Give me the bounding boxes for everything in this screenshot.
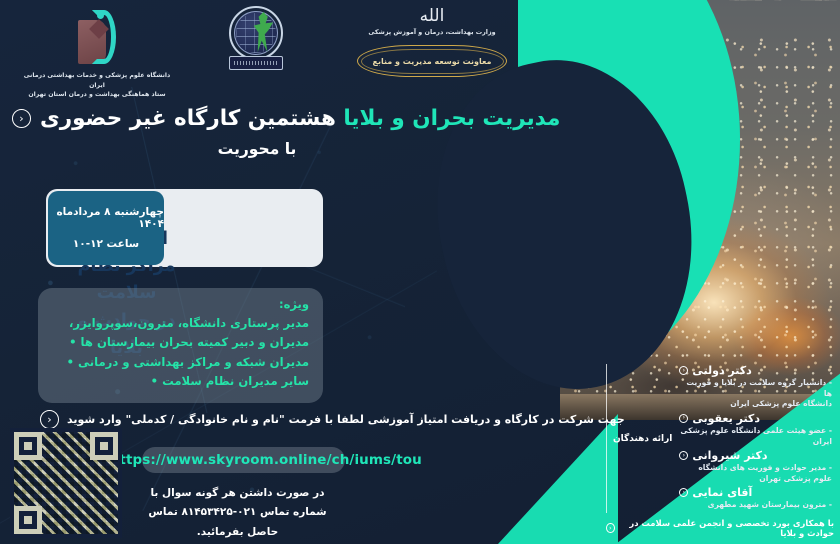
speaker-name: دکتر شیروانی <box>692 449 767 462</box>
page-title: مدیریت بحران و بلایا هشتمین کارگاه غیر ح… <box>40 106 560 131</box>
speaker-description: - دانشیار گروه سلامت در بلایا و فوریت ها… <box>679 378 834 410</box>
chevron-left-icon: ‹ <box>679 414 688 423</box>
speakers-list: ‹ دکتر دولتی - دانشیار گروه سلامت در بلا… <box>679 364 834 513</box>
audience-item: مدیر پرستاری دانشگاه، مترون،سوپروایزر، م… <box>52 314 309 353</box>
title-accent: مدیریت بحران و بلایا <box>343 106 560 131</box>
chevron-left-icon: ‹ <box>679 451 688 460</box>
qr-code[interactable] <box>10 428 122 538</box>
speaker-item: ‹ دکتر یعقوبی - عضو هیئت علمی دانشگاه عل… <box>679 412 834 447</box>
audience-heading: ویژه: <box>52 297 309 311</box>
title-prefix: هشتمین کارگاه غیر حضوری <box>40 106 336 131</box>
collaboration-text: با همکاری بورد تخصصی و انجمن علمی سلامت … <box>620 518 834 538</box>
contact-block: در صورت داشتن هر گونه سوال با شماره تماس… <box>140 484 335 544</box>
enrollment-instruction: جهت شرکت در کارگاه و دریافت امتیاز آموزش… <box>67 413 625 426</box>
audience-item-text: مدیران شبکه و مراکز بهداشتی و درمانی <box>78 355 309 369</box>
speakers-body: ارائه دهندگان ‹ دکتر دولتی - دانشیار گرو… <box>606 364 834 513</box>
audience-item: مدیران شبکه و مراکز بهداشتی و درمانی • <box>52 353 309 372</box>
qr-finder-bottom-left <box>14 506 42 534</box>
speaker-item: ‹ دکتر دولتی - دانشیار گروه سلامت در بلا… <box>679 364 834 410</box>
event-date: چهارشنبه ۸ مردادماه ۱۴۰۴ <box>48 206 164 230</box>
date-time-badge: چهارشنبه ۸ مردادماه ۱۴۰۴ ساعت ۱۲-۱۰ <box>48 191 164 265</box>
speaker-description: - مدیر حوادث و فوریت های دانشگاه علوم پز… <box>679 463 834 484</box>
workshop-url[interactable]: https://www.skyroom.online/ch/iums/tou <box>110 452 422 468</box>
speaker-name-row: ‹ دکتر یعقوبی <box>679 412 834 425</box>
speaker-name: دکتر دولتی <box>692 364 751 377</box>
audience-item-text: سایر مدیران نظام سلامت <box>162 374 309 388</box>
bullet-icon: • <box>67 355 74 369</box>
speaker-name-row: ‹ دکتر دولتی <box>679 364 834 377</box>
speaker-name: دکتر یعقوبی <box>692 412 760 425</box>
speakers-panel: ارائه دهندگان ‹ دکتر دولتی - دانشیار گرو… <box>606 364 834 538</box>
speaker-name-row: ‹ آقای نمایی <box>679 486 834 499</box>
speaker-name: آقای نمایی <box>692 486 752 499</box>
audience-item: سایر مدیران نظام سلامت • <box>52 372 309 391</box>
title-subheading: با محوریت <box>12 140 502 158</box>
enrollment-instruction-row: جهت شرکت در کارگاه و دریافت امتیاز آموزش… <box>40 410 337 429</box>
bullet-icon: • <box>69 335 76 349</box>
chevron-left-icon: ‹ <box>606 523 615 533</box>
qr-code-pattern <box>14 432 118 534</box>
audience-item-text: مدیر پرستاری دانشگاه، مترون،سوپروایزر، م… <box>69 316 309 349</box>
speaker-item: ‹ آقای نمایی - مترون بیمارستان شهید مطهر… <box>679 486 834 511</box>
contact-line-1: در صورت داشتن هر گونه سوال با <box>140 484 335 503</box>
bullet-icon: • <box>151 374 158 388</box>
chevron-left-icon: ‹ <box>679 366 688 375</box>
title-row: مدیریت بحران و بلایا هشتمین کارگاه غیر ح… <box>12 106 502 131</box>
poster-content: مدیریت بحران و بلایا هشتمین کارگاه غیر ح… <box>0 0 840 544</box>
chevron-left-icon: ‹ <box>679 488 688 497</box>
event-time: ساعت ۱۲-۱۰ <box>73 238 139 250</box>
workshop-link-pill[interactable]: https://www.skyroom.online/ch/iums/tou ل… <box>142 447 345 473</box>
qr-finder-top-left <box>14 432 42 460</box>
speaker-description: - عضو هیئت علمی دانشگاه علوم پزشکی ایران <box>679 426 834 447</box>
chevron-left-icon: ‹ <box>40 410 59 429</box>
contact-line-2: شماره تماس ۰۲۱-۸۱۴۵۳۴۲۵ تماس حاصل بفرمائ… <box>140 503 335 542</box>
event-poster: دانشگاه علوم پزشکی و خدمات بهداشتی درمان… <box>0 0 840 544</box>
chevron-left-icon: ‹ <box>12 109 31 128</box>
topic-banner: تخلیه اضطراری مراکز نظام سلامت در حوادث … <box>46 189 323 267</box>
qr-finder-top-right <box>90 432 118 460</box>
speaker-name-row: ‹ دکتر شیروانی <box>679 449 834 462</box>
speaker-description: - مترون بیمارستان شهید مطهری <box>679 500 834 511</box>
speakers-label: ارائه دهندگان <box>606 364 672 513</box>
audience-card: ویژه: مدیر پرستاری دانشگاه، مترون،سوپروا… <box>38 288 323 403</box>
speaker-item: ‹ دکتر شیروانی - مدیر حوادث و فوریت های … <box>679 449 834 484</box>
collaboration-footer: ‹ با همکاری بورد تخصصی و انجمن علمی سلام… <box>606 518 834 538</box>
